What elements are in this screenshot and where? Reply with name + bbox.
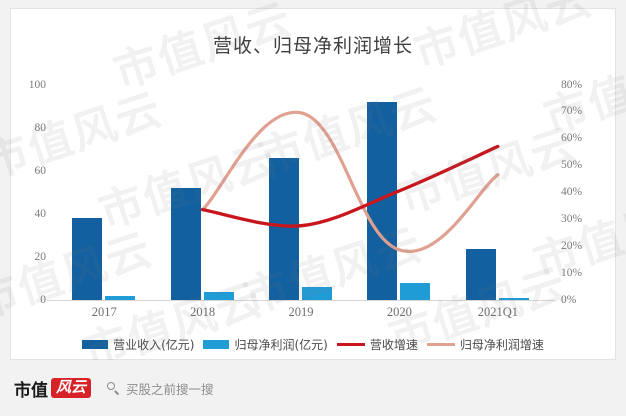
x-axis-label: 2019: [252, 305, 350, 327]
y-axis-left-tick: 60: [35, 166, 47, 178]
x-axis-baseline: [47, 300, 555, 301]
chart-title: 营收、归母净利润增长: [11, 31, 615, 58]
y-axis-right-tick: 70%: [561, 106, 582, 118]
chart-legend: 营业收入(亿元) 归母净利润(亿元) 营收增速 归母净利润增速: [11, 336, 615, 353]
legend-swatch-revenue-growth: [337, 343, 365, 346]
y-axis-left-tick: 20: [35, 252, 47, 264]
y-axis-left-tick: 0: [40, 295, 46, 307]
legend-item-profit-growth[interactable]: 归母净利润增速: [427, 336, 544, 353]
y-axis-right-tick: 30%: [561, 214, 582, 226]
legend-label: 营收增速: [370, 336, 418, 353]
search-box[interactable]: 买股之前搜一搜: [107, 379, 214, 398]
bottom-bar: 市值 风云 买股之前搜一搜: [0, 360, 626, 416]
search-placeholder: 买股之前搜一搜: [126, 379, 214, 398]
legend-swatch-revenue: [82, 340, 108, 349]
y-axis-right-tick: 0%: [561, 295, 576, 307]
legend-label: 营业收入(亿元): [113, 336, 194, 353]
x-axis-label: 2018: [153, 305, 251, 327]
y-axis-left-tick: 100: [29, 80, 46, 92]
legend-item-revenue[interactable]: 营业收入(亿元): [82, 336, 194, 353]
legend-item-revenue-growth[interactable]: 营收增速: [337, 336, 418, 353]
y-axis-right-tick: 50%: [561, 160, 582, 172]
legend-swatch-profit-growth: [427, 343, 455, 346]
y-axis-right-tick: 40%: [561, 187, 582, 199]
x-axis-label: 2021Q1: [449, 305, 547, 327]
y-axis-right-tick: 60%: [561, 133, 582, 145]
y-axis-right-tick: 80%: [561, 80, 582, 92]
y-axis-right-tick: 10%: [561, 268, 582, 280]
brand-logo[interactable]: 市值 风云: [14, 376, 91, 401]
x-axis-labels: 2017 2018 2019 2020 2021Q1: [55, 305, 547, 327]
line-series-layer: [55, 86, 547, 301]
chart-card: 营收、归母净利润增长 100 80 60 40 20 0 80% 70% 60%…: [10, 8, 616, 360]
search-icon: [107, 382, 120, 395]
plot-inner: 100 80 60 40 20 0 80% 70% 60% 50% 40% 30…: [55, 86, 547, 301]
plot-area: 100 80 60 40 20 0 80% 70% 60% 50% 40% 30…: [55, 86, 547, 301]
line-revenue-growth[interactable]: [203, 146, 498, 226]
legend-swatch-profit: [203, 340, 229, 349]
y-axis-left-tick: 40: [35, 209, 47, 221]
line-profit-growth[interactable]: [203, 112, 498, 251]
legend-item-profit[interactable]: 归母净利润(亿元): [203, 336, 327, 353]
brand-name: 市值: [14, 376, 48, 401]
legend-label: 归母净利润(亿元): [234, 336, 327, 353]
x-axis-label: 2017: [55, 305, 153, 327]
brand-badge: 风云: [51, 378, 91, 398]
legend-label: 归母净利润增速: [460, 336, 544, 353]
y-axis-right-tick: 20%: [561, 241, 582, 253]
x-axis-label: 2020: [350, 305, 448, 327]
y-axis-left-tick: 80: [35, 123, 47, 135]
